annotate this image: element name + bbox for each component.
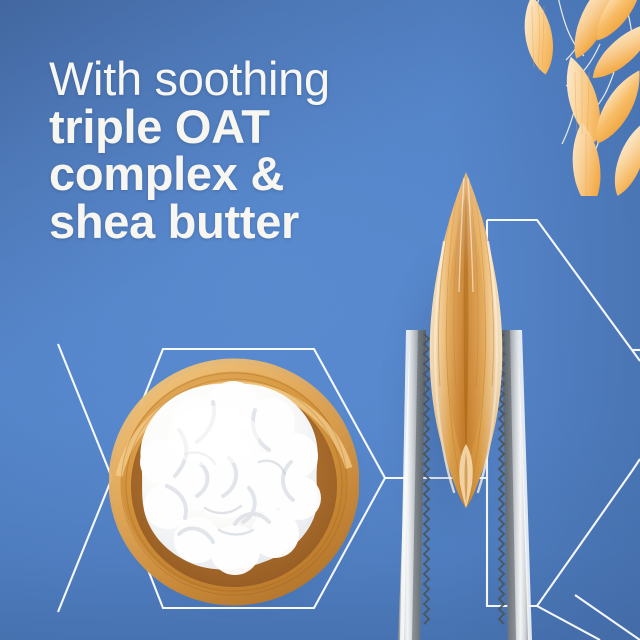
shea-butter-bowl [109, 358, 359, 608]
headline-line-2: triple OAT [49, 104, 469, 151]
product-ingredient-banner: With soothing triple OAT complex & shea … [0, 0, 640, 640]
single-oat-grain [418, 172, 514, 508]
bowl-illustration [109, 358, 359, 608]
headline-line-1: With soothing [49, 56, 469, 103]
